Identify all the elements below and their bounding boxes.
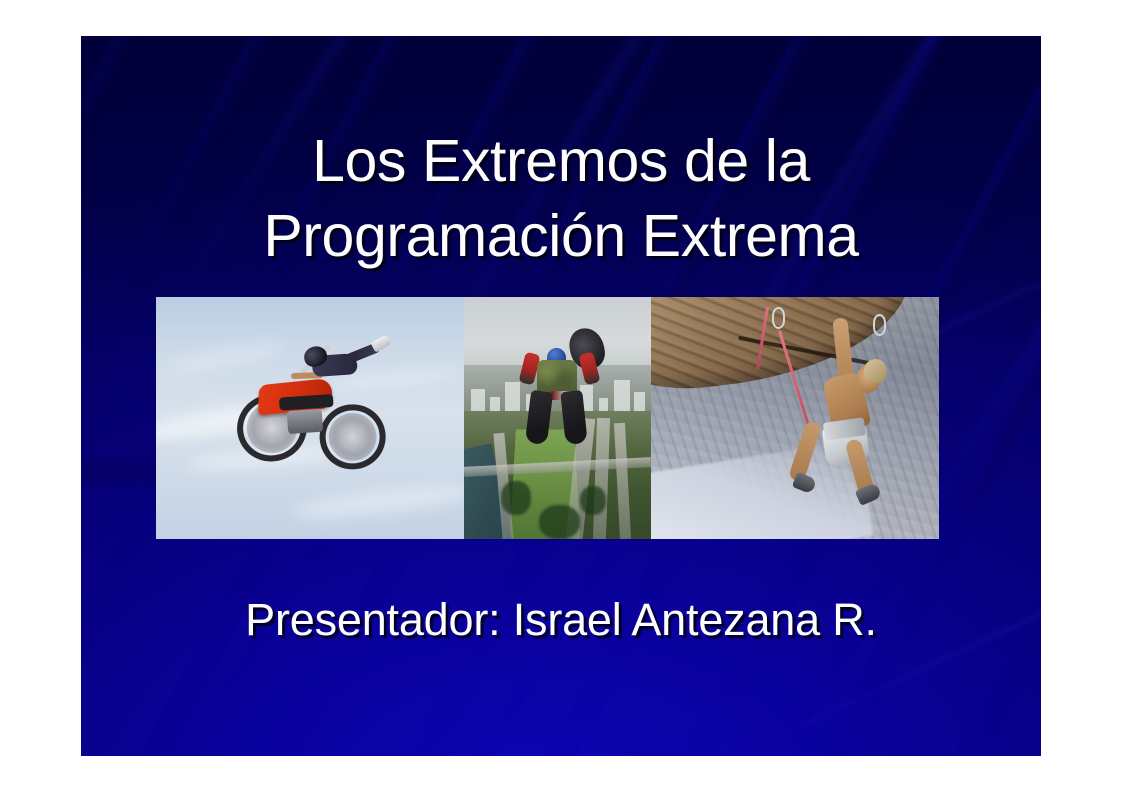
base-jumper (516, 341, 602, 462)
photo-base-jump (464, 297, 651, 539)
presentation-slide: Los Extremos de la Programación Extrema (81, 36, 1041, 756)
slide-page: Los Extremos de la Programación Extrema (0, 0, 1122, 793)
tree-cluster (501, 481, 531, 515)
photo-rock-climbing (651, 297, 939, 539)
tree-cluster (580, 486, 606, 515)
climber-figure (804, 321, 919, 500)
bike-engine (287, 409, 324, 434)
slide-title: Los Extremos de la Programación Extrema (81, 124, 1041, 274)
slide-content: Los Extremos de la Programación Extrema (81, 36, 1041, 756)
jumper-left-leg (525, 390, 554, 446)
photo-strip (156, 297, 939, 539)
carabiner (772, 307, 785, 329)
tree-cluster (539, 505, 580, 539)
jumper-right-leg (560, 390, 588, 445)
photo-motocross-jump (156, 297, 464, 539)
slide-presenter-subtitle: Presentador: Israel Antezana R. (81, 592, 1041, 648)
